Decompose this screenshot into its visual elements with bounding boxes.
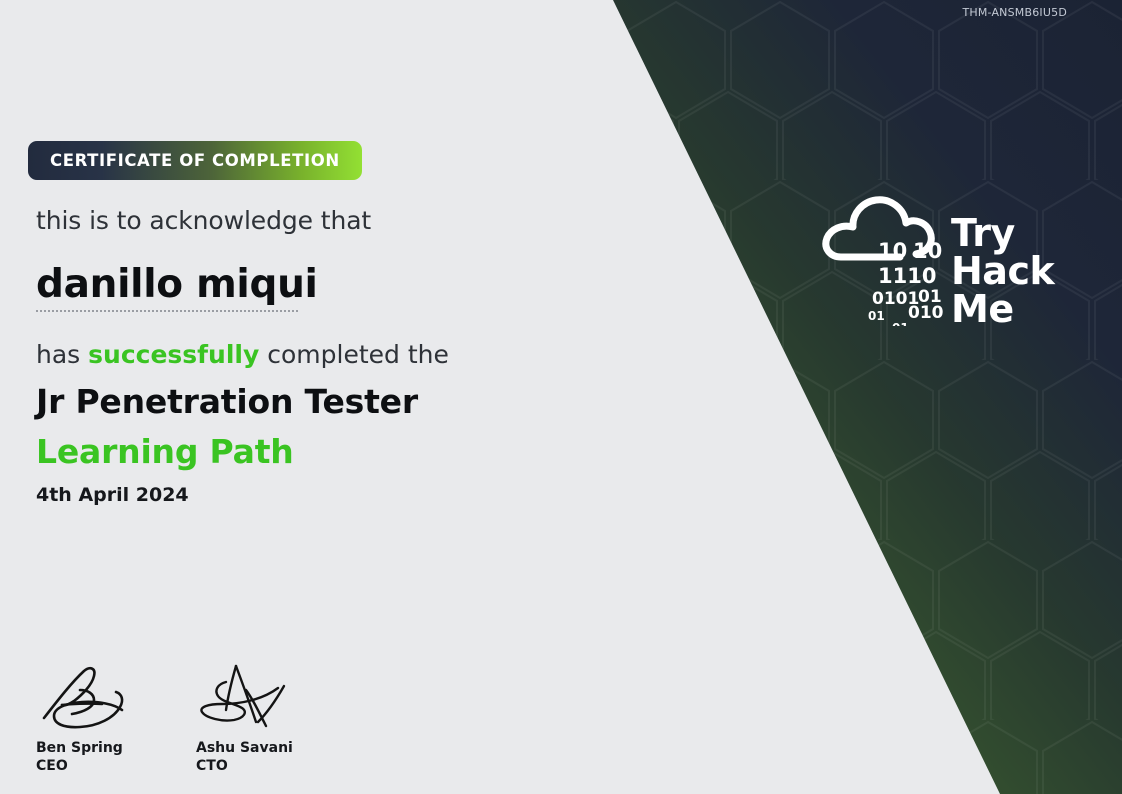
signature-mark-ashu-savani (196, 660, 306, 738)
completed-suffix: completed the (259, 340, 449, 369)
signature-role: CEO (36, 758, 146, 776)
signature-name: Ashu Savani (196, 740, 306, 758)
completed-line: has successfully completed the (36, 340, 449, 369)
brand-line-try: Try (951, 214, 1054, 252)
brand-wordmark: Try Hack Me (951, 214, 1054, 328)
signature-name: Ben Spring (36, 740, 146, 758)
signature-mark-ben-spring (36, 660, 146, 738)
signature-block-ceo: Ben Spring CEO (36, 660, 146, 775)
binary-row-2: 0101 (872, 289, 919, 309)
signature-block-cto: Ashu Savani CTO (196, 660, 306, 775)
recipient-name: danillo miqui (36, 262, 318, 307)
completed-prefix: has (36, 340, 88, 369)
binary-row-3b: 010 (908, 303, 944, 323)
tryhackme-logo: 10 10 1110 0101 01 01 010 01 Try Hack Me (808, 196, 1073, 336)
binary-row-4: 01 (892, 321, 909, 326)
completion-date: 4th April 2024 (36, 484, 189, 506)
course-subtitle: Learning Path (36, 432, 294, 471)
cloud-icon (808, 196, 948, 276)
recipient-underline (36, 310, 298, 312)
certificate-badge: CERTIFICATE OF COMPLETION (28, 141, 362, 180)
binary-row-2b: 01 (918, 287, 942, 307)
completed-highlight: successfully (88, 340, 259, 369)
course-title: Jr Penetration Tester (36, 382, 418, 421)
binary-row-3: 01 (868, 309, 885, 323)
acknowledge-line: this is to acknowledge that (36, 206, 371, 235)
signature-role: CTO (196, 758, 306, 776)
brand-line-me: Me (951, 290, 1054, 328)
brand-line-hack: Hack (951, 252, 1054, 290)
certificate-page: THM-ANSMB6IU5D CERTIFICATE OF COMPLETION… (0, 0, 1122, 794)
certificate-id: THM-ANSMB6IU5D (962, 6, 1067, 19)
